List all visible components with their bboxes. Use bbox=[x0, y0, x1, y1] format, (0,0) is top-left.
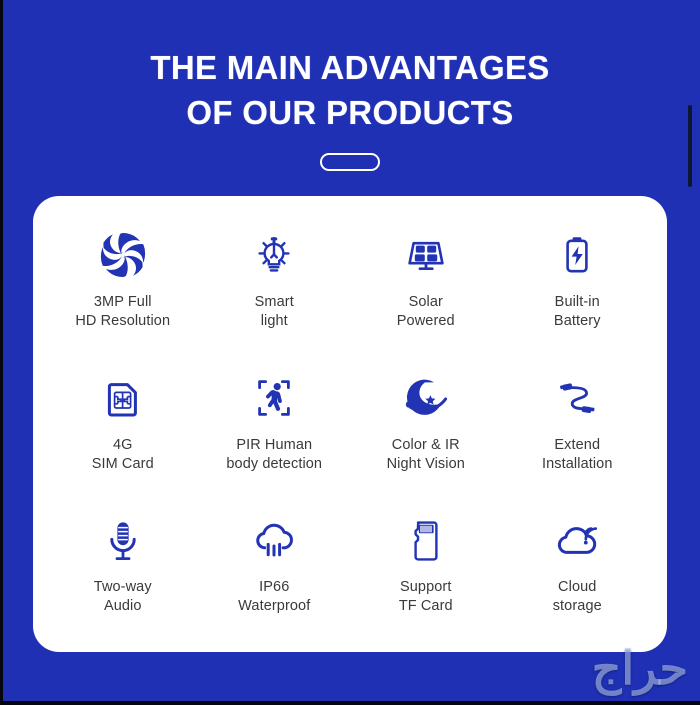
scrollbar-thumb[interactable] bbox=[688, 105, 692, 187]
features-card: 3MP Full HD Resolution bbox=[33, 196, 667, 652]
feature-label: Two-way Audio bbox=[94, 578, 152, 616]
feature-label: IP66 Waterproof bbox=[238, 578, 310, 616]
feature-item-color-ir-night-vision[interactable]: Color & IR Night Vision bbox=[350, 357, 502, 500]
feature-label: Support TF Card bbox=[399, 578, 453, 616]
feature-label: Smart light bbox=[255, 293, 294, 331]
human-detection-icon bbox=[245, 369, 303, 427]
feature-item-4g-sim-card[interactable]: 4G SIM Card bbox=[47, 357, 199, 500]
tf-card-icon bbox=[397, 511, 455, 569]
feature-item-cloud-storage[interactable]: Cloud storage bbox=[502, 499, 654, 642]
feature-item-extend-installation[interactable]: Extend Installation bbox=[502, 357, 654, 500]
microphone-icon bbox=[94, 511, 152, 569]
battery-icon bbox=[548, 226, 606, 284]
extension-cable-icon bbox=[548, 369, 606, 427]
lightbulb-icon bbox=[245, 226, 303, 284]
feature-item-ip66-waterproof[interactable]: IP66 Waterproof bbox=[199, 499, 351, 642]
feature-label: Color & IR Night Vision bbox=[387, 436, 465, 474]
features-grid: 3MP Full HD Resolution bbox=[33, 196, 667, 652]
feature-label: Extend Installation bbox=[542, 436, 613, 474]
feature-label: PIR Human body detection bbox=[226, 436, 322, 474]
moon-star-icon bbox=[397, 369, 455, 427]
feature-label: Cloud storage bbox=[553, 578, 602, 616]
page-title-line-1: THE MAIN ADVANTAGES bbox=[0, 46, 700, 90]
sim-card-icon bbox=[94, 369, 152, 427]
frame-edge-bottom bbox=[0, 701, 700, 705]
aperture-icon bbox=[94, 226, 152, 284]
feature-item-pir-human-body-detection[interactable]: PIR Human body detection bbox=[199, 357, 351, 500]
solar-panel-icon bbox=[397, 226, 455, 284]
header: THE MAIN ADVANTAGES OF OUR PRODUCTS bbox=[0, 0, 700, 171]
feature-item-3mp-full-hd-resolution[interactable]: 3MP Full HD Resolution bbox=[47, 214, 199, 357]
feature-item-built-in-battery[interactable]: Built-in Battery bbox=[502, 214, 654, 357]
cloud-wifi-icon bbox=[548, 511, 606, 569]
page-title-line-2: OF OUR PRODUCTS bbox=[0, 91, 700, 135]
pill-divider-icon bbox=[320, 153, 380, 171]
feature-label: 3MP Full HD Resolution bbox=[75, 293, 170, 331]
title-divider bbox=[0, 153, 700, 171]
rain-cloud-icon bbox=[245, 511, 303, 569]
feature-item-smart-light[interactable]: Smart light bbox=[199, 214, 351, 357]
feature-label: Solar Powered bbox=[397, 293, 455, 331]
feature-item-support-tf-card[interactable]: Support TF Card bbox=[350, 499, 502, 642]
feature-item-two-way-audio[interactable]: Two-way Audio bbox=[47, 499, 199, 642]
feature-label: 4G SIM Card bbox=[92, 436, 154, 474]
feature-label: Built-in Battery bbox=[554, 293, 601, 331]
frame-edge-left bbox=[0, 0, 3, 705]
product-advantages-infographic: THE MAIN ADVANTAGES OF OUR PRODUCTS bbox=[0, 0, 700, 705]
feature-item-solar-powered[interactable]: Solar Powered bbox=[350, 214, 502, 357]
